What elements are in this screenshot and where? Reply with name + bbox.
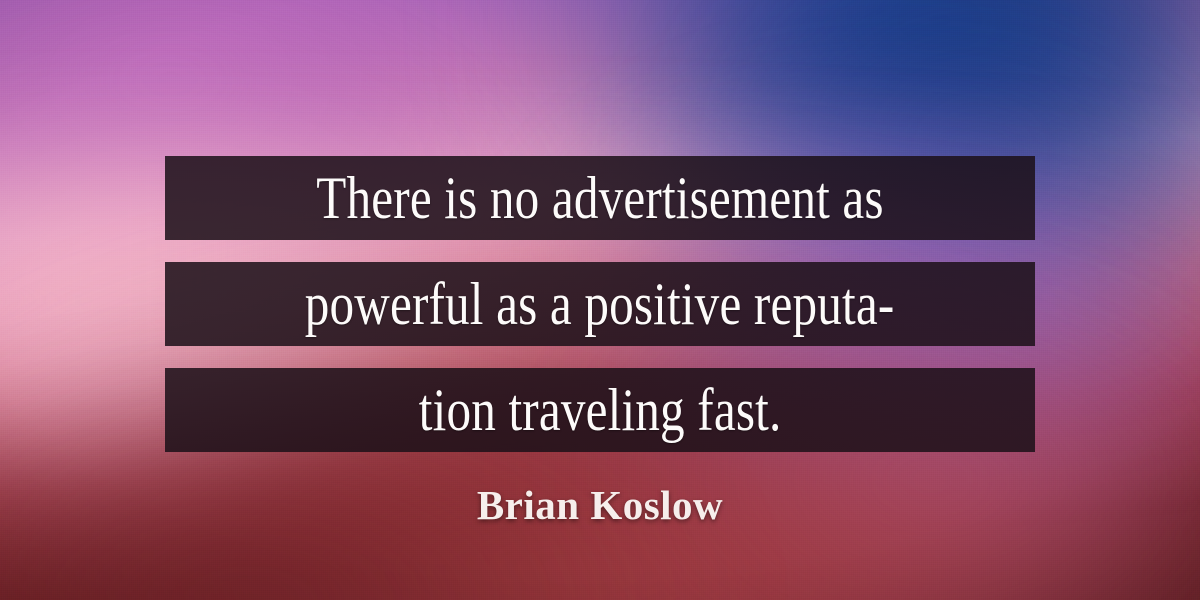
quote-text-block: There is no advertisement as powerful as… [165,156,1035,452]
quote-line-band: There is no advertisement as [165,156,1035,240]
quote-line-text: There is no advertisement as [316,168,883,228]
quote-line-text: tion traveling fast. [419,380,782,440]
quote-line-text: powerful as a positive reputa- [305,274,895,334]
quote-line-band: powerful as a positive reputa- [165,262,1035,346]
quote-author: Brian Koslow [0,481,1200,529]
quote-card: There is no advertisement as powerful as… [0,0,1200,600]
quote-line-band: tion traveling fast. [165,368,1035,452]
